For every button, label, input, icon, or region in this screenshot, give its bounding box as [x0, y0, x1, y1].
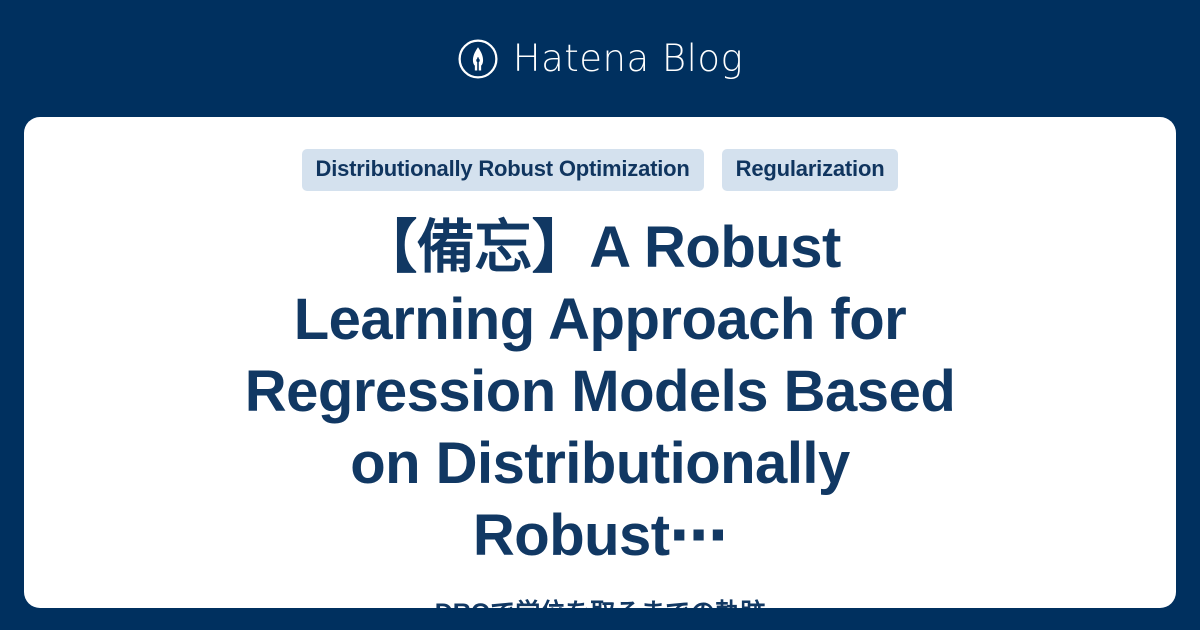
- blog-subtitle: DROで学位を取るまでの軌跡: [435, 598, 766, 608]
- fountain-pen-nib-circle-icon: [457, 38, 499, 80]
- tag-badge-regularization[interactable]: Regularization: [722, 149, 899, 191]
- hatena-blog-og-card: Hatena Blog Distributionally Robust Opti…: [0, 0, 1200, 630]
- site-header: Hatena Blog: [0, 0, 1200, 117]
- tag-list: Distributionally Robust Optimization Reg…: [302, 149, 899, 191]
- brand-name: Hatena Blog: [513, 40, 744, 77]
- entry-title: 【備忘】A Robust Learning Approach for Regre…: [235, 212, 965, 572]
- tag-badge-distributionally-robust-optimization[interactable]: Distributionally Robust Optimization: [302, 149, 704, 191]
- entry-content-card: Distributionally Robust Optimization Reg…: [24, 117, 1176, 608]
